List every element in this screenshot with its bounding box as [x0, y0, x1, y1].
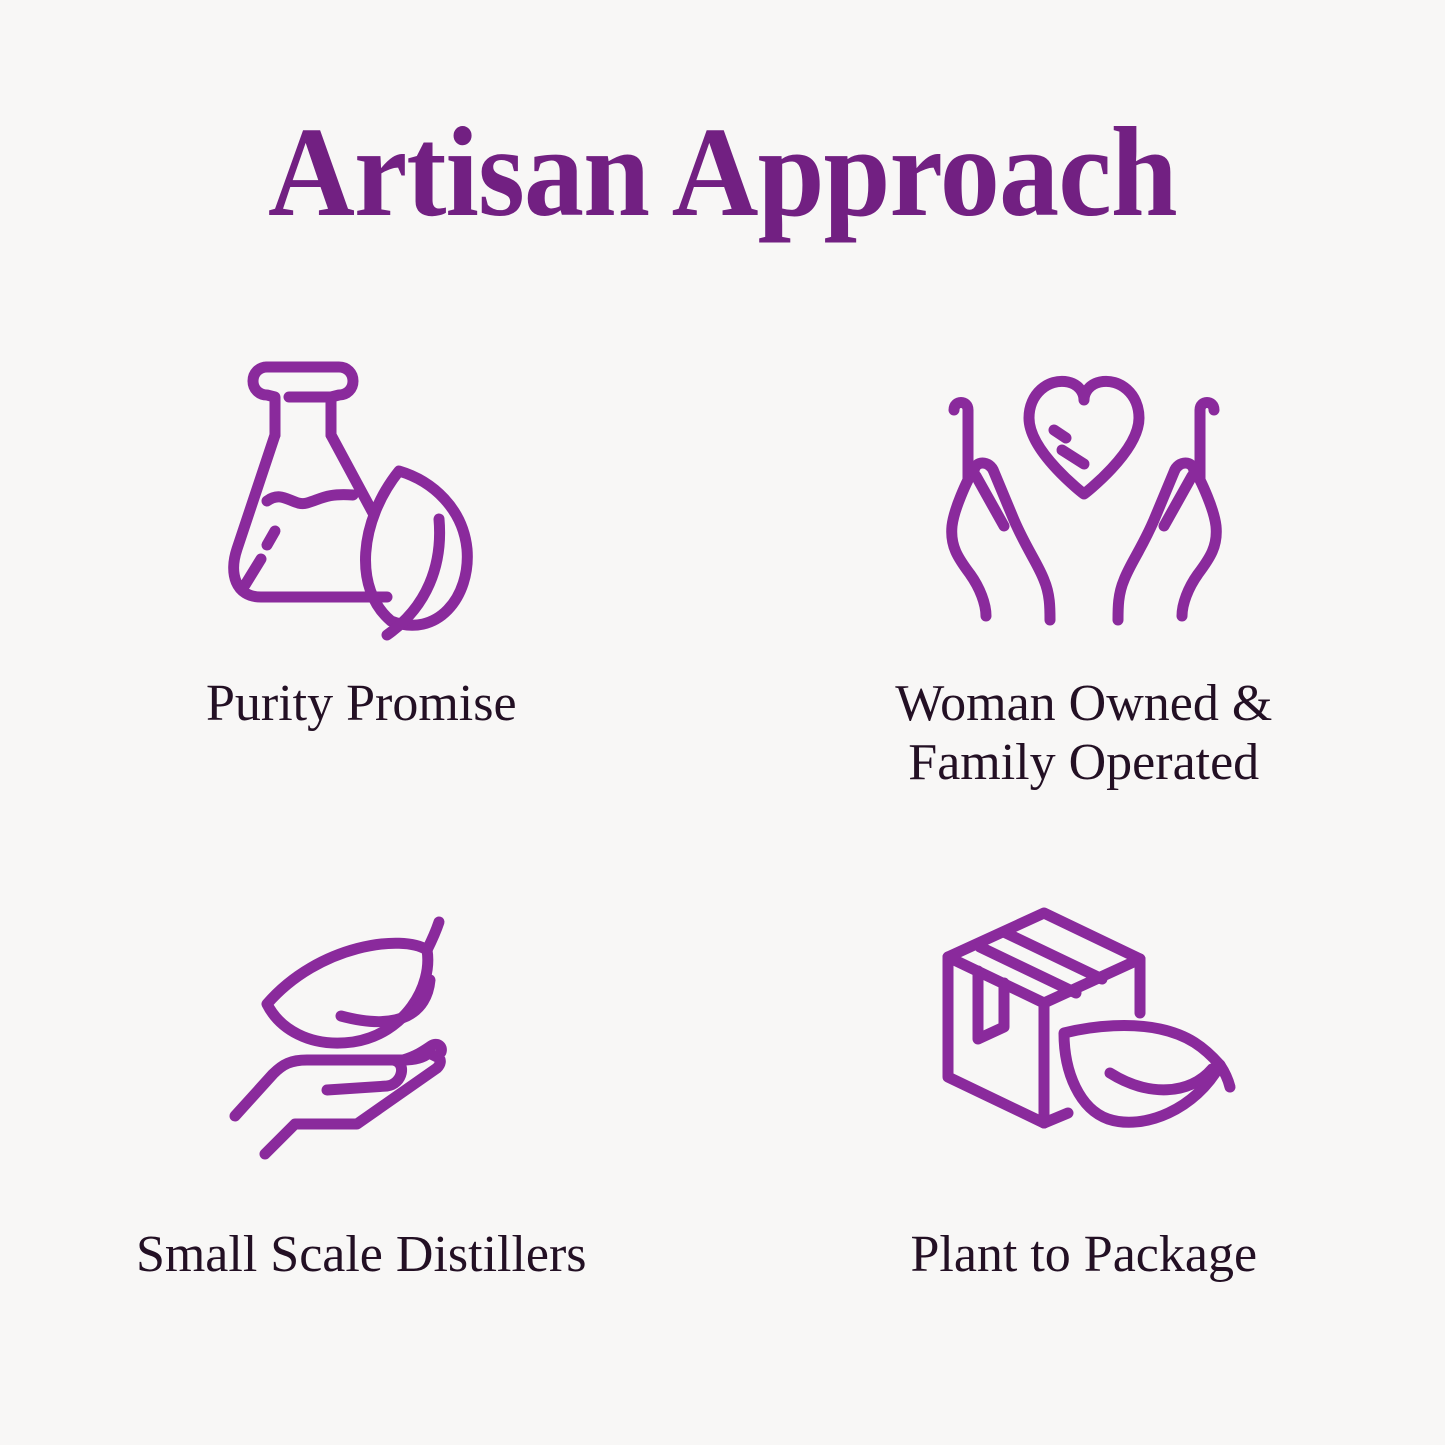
feature-small-scale-distillers: Small Scale Distillers: [0, 845, 723, 1360]
hand-leaf-icon-svg: [227, 910, 495, 1160]
box-leaf-vein: [1110, 1069, 1212, 1090]
box-leaf-outer: [1064, 1026, 1220, 1123]
flask-rim-left-path: [253, 367, 275, 435]
box-leaf-tip: [1220, 1065, 1230, 1087]
box-leaf-icon-svg: [934, 903, 1234, 1159]
feature-woman-owned: Woman Owned & Family Operated: [723, 330, 1445, 845]
flask-leaf-icon-svg: [227, 353, 495, 643]
heart-highlight-short: [1054, 430, 1066, 438]
flask-body-right-path: [331, 435, 373, 513]
flask-liquid-wave: [267, 495, 353, 504]
feature-label-small-scale-distillers: Small Scale Distillers: [136, 1225, 587, 1284]
hands-heart-icon: [934, 352, 1234, 652]
flask-highlight-short: [267, 531, 275, 545]
box-leaf-icon: [934, 881, 1234, 1181]
flask-leaf-icon: [211, 348, 511, 648]
heart-outline: [1029, 381, 1139, 494]
page-title-container: Artisan Approach: [0, 108, 1445, 236]
feature-label-purity-promise: Purity Promise: [206, 674, 517, 733]
feature-grid: Purity Promise: [0, 330, 1445, 1360]
artisan-approach-graphic: Artisan Approach: [0, 0, 1445, 1445]
hands-heart-icon-svg: [934, 368, 1234, 636]
page-title: Artisan Approach: [268, 108, 1177, 236]
hand-leaf-outer: [267, 943, 428, 1043]
hand-leaf-icon: [211, 885, 511, 1185]
heart-highlight-long: [1062, 450, 1084, 464]
right-hand-outer: [1182, 403, 1216, 617]
hand-outline: [235, 1053, 440, 1154]
hand-leaf-stem: [427, 922, 439, 950]
feature-label-plant-to-package: Plant to Package: [910, 1225, 1257, 1284]
feature-plant-to-package: Plant to Package: [723, 845, 1445, 1360]
feature-purity-promise: Purity Promise: [0, 330, 723, 845]
feature-label-woman-owned: Woman Owned & Family Operated: [895, 674, 1272, 793]
flask-highlight-long: [245, 559, 261, 585]
left-hand-outer: [951, 403, 985, 617]
